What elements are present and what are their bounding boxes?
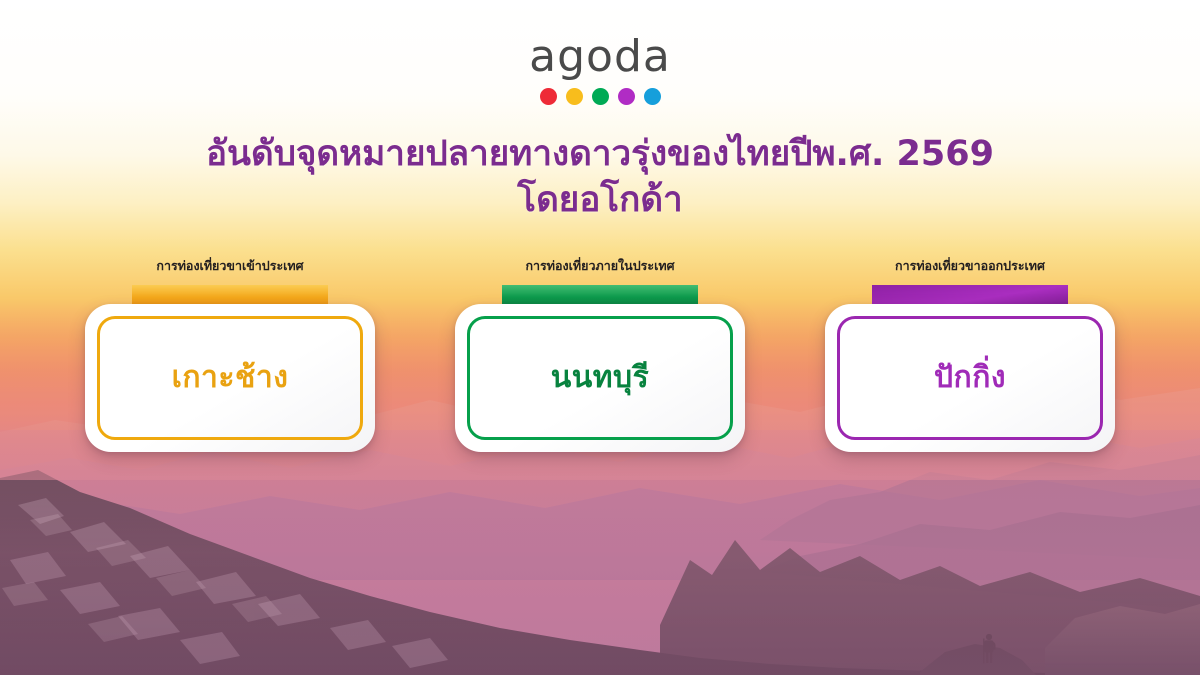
- destination-card-row: การท่องเที่ยวขาเข้าประเทศ: [0, 258, 1200, 468]
- agoda-logo: agoda: [0, 32, 1200, 105]
- slide-canvas: agoda อันดับจุดหมายปลายทางดาวรุ่งของไทยป…: [0, 0, 1200, 675]
- category-label-domestic: การท่องเที่ยวภายในประเทศ: [435, 258, 765, 274]
- dot-purple-icon: [618, 88, 635, 105]
- page-title-line-2: โดยอโกด้า: [0, 177, 1200, 223]
- card-holder-inbound: เกาะช้าง: [65, 282, 395, 460]
- dot-red-icon: [540, 88, 557, 105]
- page-title: อันดับจุดหมายปลายทางดาวรุ่งของไทยปีพ.ศ. …: [0, 131, 1200, 223]
- destination-card-inbound[interactable]: เกาะช้าง: [85, 304, 375, 452]
- agoda-wordmark: agoda: [0, 32, 1200, 82]
- destination-name-domestic: นนทบุรี: [551, 358, 649, 398]
- destination-column-outbound: การท่องเที่ยวขาออกประเทศ: [805, 258, 1135, 460]
- category-label-inbound: การท่องเที่ยวขาเข้าประเทศ: [65, 258, 395, 274]
- hiker-silhouette-icon: [975, 632, 1003, 666]
- destination-name-inbound: เกาะช้าง: [172, 358, 289, 398]
- destination-column-domestic: การท่องเที่ยวภายในประเทศ: [435, 258, 765, 460]
- destination-card-outbound[interactable]: ปักกิ่ง: [825, 304, 1115, 452]
- destination-column-inbound: การท่องเที่ยวขาเข้าประเทศ: [65, 258, 395, 460]
- category-label-outbound: การท่องเที่ยวขาออกประเทศ: [805, 258, 1135, 274]
- destination-name-outbound: ปักกิ่ง: [934, 358, 1006, 398]
- dot-yellow-icon: [566, 88, 583, 105]
- dot-green-icon: [592, 88, 609, 105]
- dot-blue-icon: [644, 88, 661, 105]
- card-holder-domestic: นนทบุรี: [435, 282, 765, 460]
- page-title-line-1: อันดับจุดหมายปลายทางดาวรุ่งของไทยปีพ.ศ. …: [206, 134, 994, 174]
- agoda-logo-dots: [0, 88, 1200, 105]
- card-holder-outbound: ปักกิ่ง: [805, 282, 1135, 460]
- destination-card-domestic[interactable]: นนทบุรี: [455, 304, 745, 452]
